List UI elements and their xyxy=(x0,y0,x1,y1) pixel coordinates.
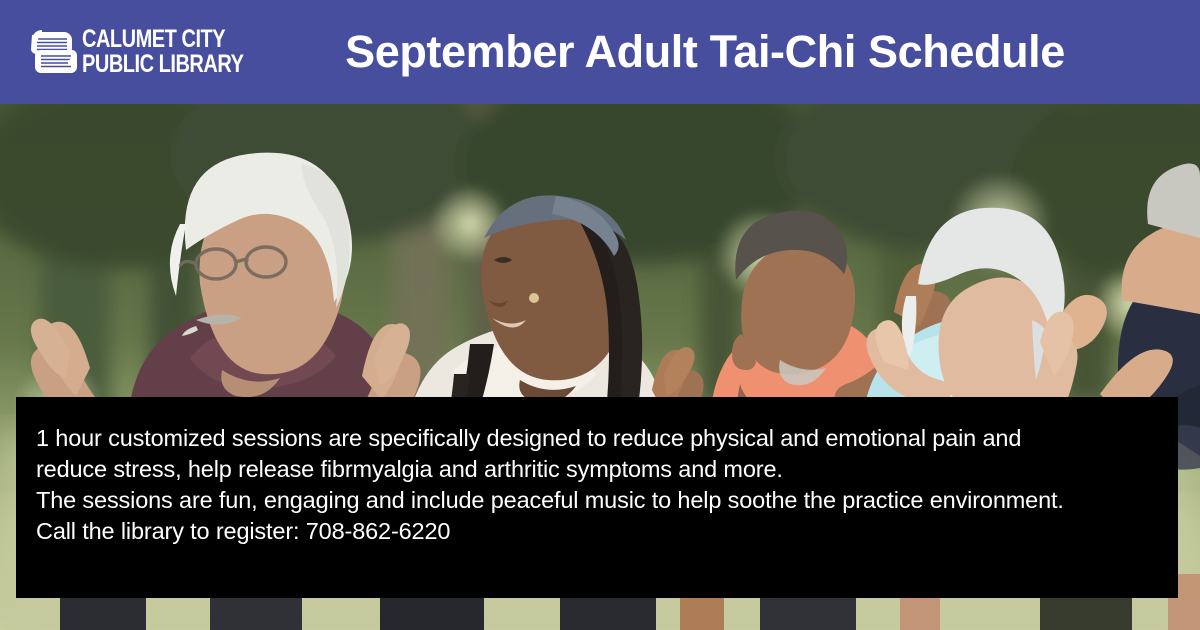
caption-line-4-phone: Call the library to register: 708-862-62… xyxy=(36,516,1164,547)
caption-line-3: The sessions are fun, engaging and inclu… xyxy=(36,485,1164,516)
caption-box: 1 hour customized sessions are specifica… xyxy=(16,397,1178,598)
page-title: September Adult Tai-Chi Schedule xyxy=(0,26,1200,78)
caption-line-2: reduce stress, help release fibrmyalgia … xyxy=(36,454,1164,485)
caption-line-1: 1 hour customized sessions are specifica… xyxy=(36,423,1164,454)
poster-canvas: CALUMET CITY PUBLIC LIBRARY September Ad… xyxy=(0,0,1200,630)
header-bar: CALUMET CITY PUBLIC LIBRARY September Ad… xyxy=(0,0,1200,104)
